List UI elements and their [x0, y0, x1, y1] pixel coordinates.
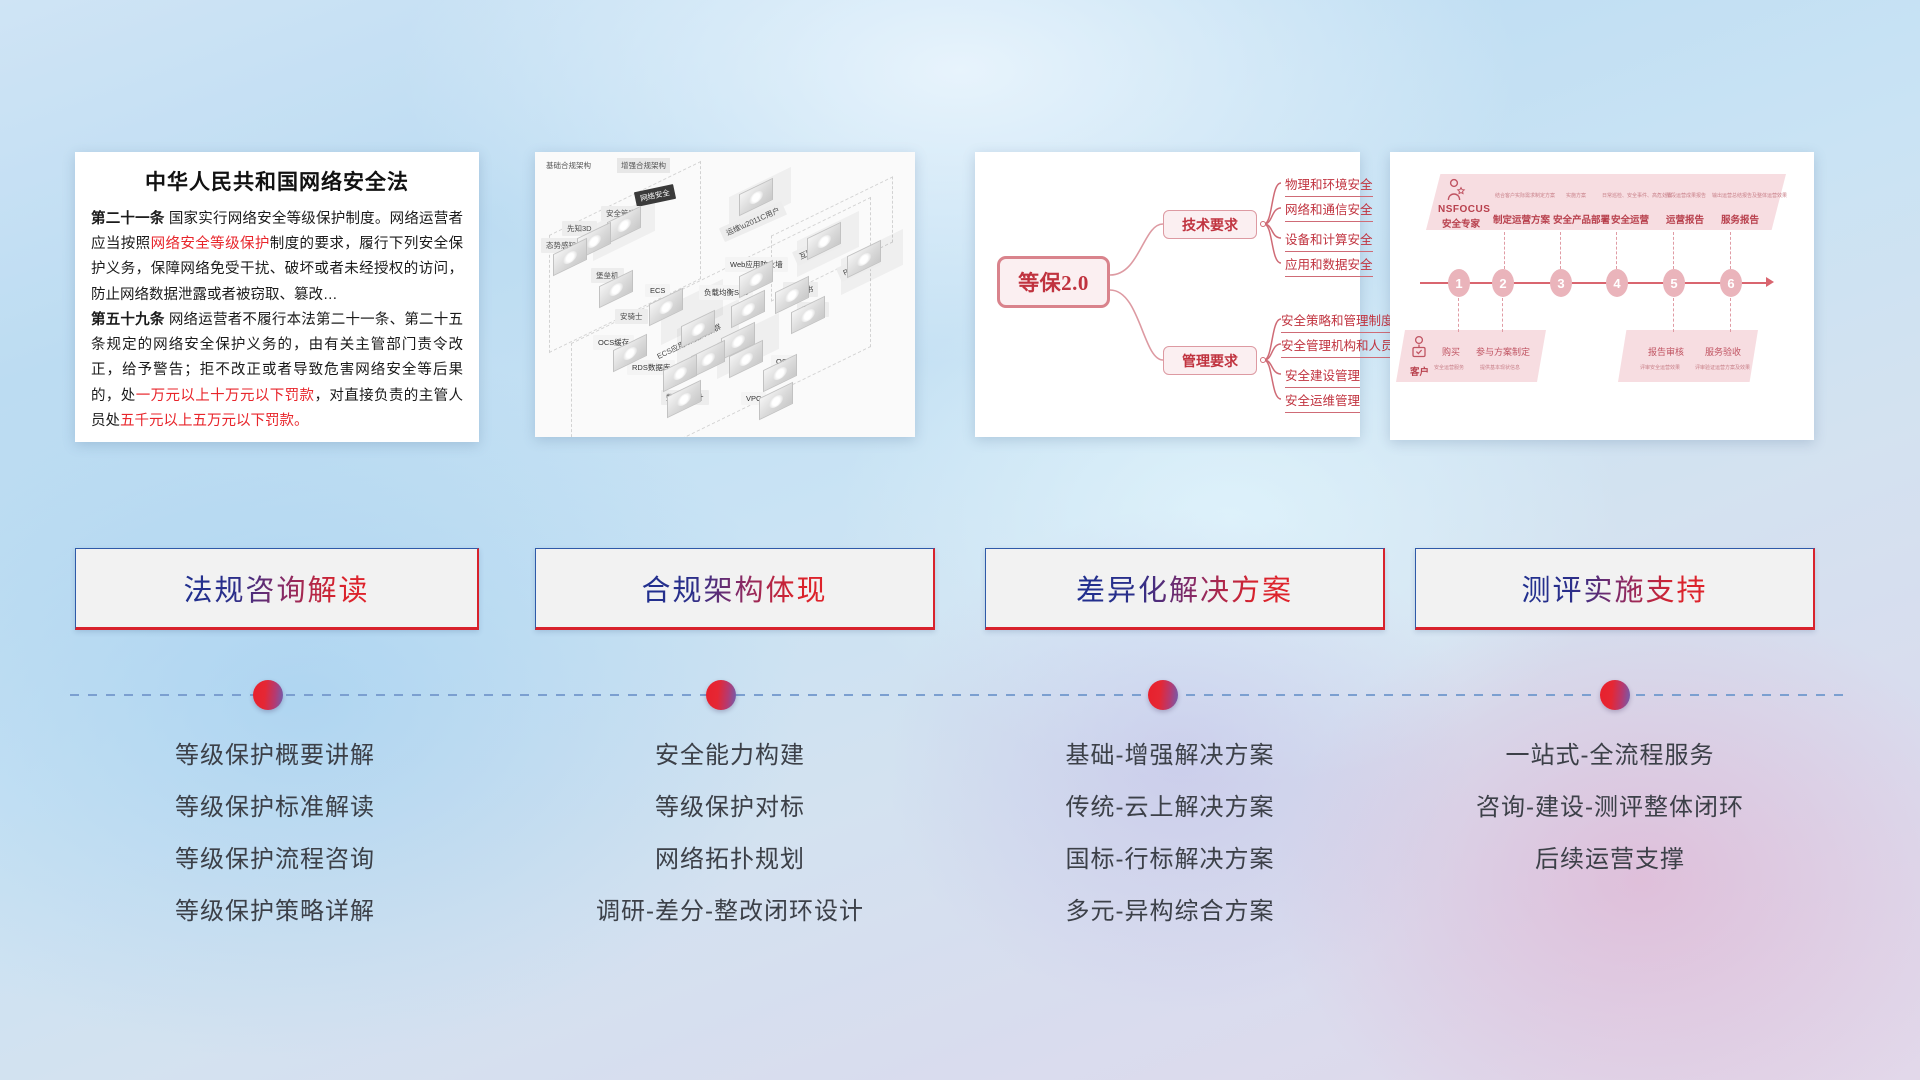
- category-button-regulation-consulting[interactable]: 法规咨询解读: [75, 548, 479, 630]
- law-title: 中华人民共和国网络安全法: [91, 166, 463, 196]
- arch-node-box-5: [739, 186, 773, 208]
- feature-column-solution: 基础-增强解决方案 传统-云上解决方案 国标-行标解决方案 多元-异构综合方案: [960, 744, 1380, 952]
- arch-tab-enhanced[interactable]: 增强合规架构: [617, 158, 670, 173]
- mindmap-leaf-app-data: 应用和数据安全: [1285, 254, 1373, 277]
- customer-role-label: 客户: [1410, 364, 1429, 378]
- mindmap-branch-technical[interactable]: 技术要求: [1163, 210, 1257, 239]
- timeline-bottom-title-1: 购买: [1442, 345, 1460, 358]
- timeline-node-4[interactable]: 4: [1606, 269, 1628, 297]
- timeline-axis: [1420, 282, 1768, 284]
- mindmap-leaf-policy-system: 安全策略和管理制度: [1281, 310, 1394, 333]
- timeline-connector-4-top: [1616, 232, 1617, 269]
- mindmap-leaf-network-comm: 网络和通信安全: [1285, 199, 1373, 222]
- arch-node-box-1: [607, 214, 641, 236]
- arch-node-box-11: [649, 296, 683, 318]
- timeline-connector-2-top: [1504, 232, 1505, 269]
- timeline-bottom-title-4: 服务验收: [1705, 345, 1741, 358]
- category-button-assessment-support[interactable]: 测评实施支持: [1415, 548, 1815, 630]
- feature-item: 多元-异构综合方案: [960, 900, 1380, 924]
- mindmap-diagram: 等保2.0 技术要求 物理和环境安全 网络和通信安全 设备和计算安全 应用和数据…: [975, 152, 1360, 437]
- feature-item: 咨询-建设-测评整体闭环: [1400, 796, 1820, 820]
- category-button-label: 差异化解决方案: [1076, 567, 1293, 609]
- category-button-label: 测评实施支持: [1521, 567, 1707, 609]
- mindmap-leaf-device-compute: 设备和计算安全: [1285, 229, 1373, 252]
- feature-column-architecture: 安全能力构建 等级保护对标 网络拓扑规划 调研-差分-整改闭环设计: [520, 744, 940, 952]
- timeline-node-6[interactable]: 6: [1720, 269, 1742, 297]
- arch-node-box-8: [739, 268, 773, 290]
- mindmap-collapse-dot-management[interactable]: [1260, 357, 1266, 363]
- timeline-top-title-1: 制定运营方案: [1493, 212, 1550, 226]
- timeline-diagram: NSFOCUS 安全专家 结合客户实际需求制定方案 制定运营方案 实施方案 安全…: [1390, 152, 1814, 440]
- arch-node-box-12: [731, 298, 765, 320]
- arch-node-box-6: [807, 230, 841, 252]
- card-compliance-architecture[interactable]: 基础合规架构 增强合规架构 网络安全 安全管家 先知3D 态势感知3D 堡垒机 …: [535, 152, 915, 437]
- arch-node-box-16: [729, 348, 763, 370]
- timeline-marker-3[interactable]: [1148, 680, 1178, 710]
- feature-item: 网络拓扑规划: [520, 848, 940, 872]
- timeline-connector-6-bottom: [1730, 298, 1731, 332]
- timeline-marker-4[interactable]: [1600, 680, 1630, 710]
- mindmap-leaf-org-personnel: 安全管理机构和人员: [1281, 335, 1394, 358]
- timeline-bottom-sub-1: 安全运营服务: [1434, 364, 1464, 371]
- arch-node-box-10: [791, 304, 825, 326]
- category-button-label: 法规咨询解读: [183, 567, 369, 609]
- arch-node-box-4: [599, 278, 633, 300]
- mindmap-leaf-ops-mgmt: 安全运维管理: [1285, 390, 1360, 413]
- timeline-connector-6-top: [1730, 232, 1731, 269]
- feature-item: 传统-云上解决方案: [960, 796, 1380, 820]
- timeline-arrow-icon: [1766, 277, 1774, 287]
- feature-column-regulation: 等级保护概要讲解 等级保护标准解读 等级保护流程咨询 等级保护策略详解: [65, 744, 485, 952]
- feature-item: 等级保护概要讲解: [65, 744, 485, 768]
- timeline-top-sub-2: 实施方案: [1566, 192, 1586, 199]
- timeline-top-sub-1: 结合客户实际需求制定方案: [1495, 192, 1555, 199]
- arch-node-box-17: [613, 342, 647, 364]
- customer-icon: [1410, 335, 1428, 366]
- arch-node-box-19: [667, 388, 701, 410]
- timeline-node-3[interactable]: 3: [1550, 269, 1572, 297]
- timeline-top-title-2: 安全产品部署: [1553, 212, 1610, 226]
- timeline-node-2[interactable]: 2: [1492, 269, 1514, 297]
- article-59-penalty-1: 一万元以上十万元以下罚款: [136, 388, 315, 404]
- law-article-21: 第二十一条 国家实行网络安全等级保护制度。网络运营者应当按照网络安全等级保护制度…: [91, 207, 463, 308]
- timeline-top-sub-3: 日常巡检、安全事件、高危处置: [1602, 192, 1672, 199]
- article-21-label: 第二十一条: [91, 211, 165, 227]
- timeline-connector-1-bottom: [1458, 298, 1459, 332]
- category-button-compliance-architecture[interactable]: 合规架构体现: [535, 548, 935, 630]
- arch-node-box-21: [759, 390, 793, 412]
- vendor-role-label: 安全专家: [1442, 216, 1480, 230]
- architecture-diagram: 基础合规架构 增强合规架构 网络安全 安全管家 先知3D 态势感知3D 堡垒机 …: [535, 152, 915, 437]
- timeline-node-1[interactable]: 1: [1448, 269, 1470, 297]
- timeline-top-sub-4: 阶段运营成果报告: [1666, 192, 1706, 199]
- card-cybersecurity-law[interactable]: 中华人民共和国网络安全法 第二十一条 国家实行网络安全等级保护制度。网络运营者应…: [75, 152, 479, 442]
- arch-node-box-18: [663, 362, 697, 384]
- card-assessment-timeline[interactable]: NSFOCUS 安全专家 结合客户实际需求制定方案 制定运营方案 实施方案 安全…: [1390, 152, 1814, 440]
- arch-node-box-20: [763, 362, 797, 384]
- timeline-bottom-title-2: 参与方案制定: [1476, 345, 1530, 358]
- feature-item: 等级保护标准解读: [65, 796, 485, 820]
- feature-item: 国标-行标解决方案: [960, 848, 1380, 872]
- feature-item: 等级保护对标: [520, 796, 940, 820]
- timeline-marker-2[interactable]: [706, 680, 736, 710]
- timeline-node-5[interactable]: 5: [1663, 269, 1685, 297]
- timeline-marker-1[interactable]: [253, 680, 283, 710]
- arch-label-anqishi: 安骑士: [615, 309, 648, 324]
- article-59-penalty-2: 五千元以上五万元以下罚款。: [120, 413, 309, 429]
- timeline-connector-3-top: [1560, 232, 1561, 269]
- timeline-bottom-sub-4: 评审验证运营方案及效果: [1695, 364, 1750, 371]
- cards-row: 中华人民共和国网络安全法 第二十一条 国家实行网络安全等级保护制度。网络运营者应…: [0, 0, 1920, 440]
- arch-tab-basic[interactable]: 基础合规架构: [542, 158, 595, 173]
- law-text-body: 中华人民共和国网络安全法 第二十一条 国家实行网络安全等级保护制度。网络运营者应…: [75, 152, 479, 434]
- feature-item: 后续运营支撑: [1400, 848, 1820, 872]
- mindmap-collapse-dot-technical[interactable]: [1260, 221, 1266, 227]
- timeline-dashed-line: [70, 694, 1850, 696]
- category-button-differentiated-solution[interactable]: 差异化解决方案: [985, 548, 1385, 630]
- timeline-bottom-title-3: 报告审核: [1648, 345, 1684, 358]
- arch-node-box-3: [553, 246, 587, 268]
- timeline-top-title-4: 运营报告: [1666, 212, 1704, 226]
- timeline-bottom-sub-2: 提供基本现状信息: [1480, 364, 1520, 371]
- article-21-highlight: 网络安全等级保护: [151, 236, 270, 252]
- timeline-bottom-sub-3: 评审安全运营效果: [1640, 364, 1680, 371]
- article-59-label: 第五十九条: [91, 312, 165, 328]
- timeline-top-title-3: 安全运营: [1611, 212, 1649, 226]
- vendor-expert-icon: [1445, 178, 1467, 207]
- mindmap-leaf-physical-env: 物理和环境安全: [1285, 174, 1373, 197]
- feature-column-assessment: 一站式-全流程服务 咨询-建设-测评整体闭环 后续运营支撑: [1400, 744, 1820, 900]
- feature-item: 基础-增强解决方案: [960, 744, 1380, 768]
- arch-node-box-13: [681, 318, 715, 340]
- arch-node-box-7: [847, 248, 881, 270]
- mindmap-root-node[interactable]: 等保2.0: [997, 256, 1110, 308]
- vendor-name-label: NSFOCUS: [1438, 204, 1490, 215]
- arch-node-box-9: [775, 284, 809, 306]
- timeline-top-title-5: 服务报告: [1721, 212, 1759, 226]
- timeline-connector-2-bottom: [1502, 298, 1503, 332]
- card-mindmap-dengbao[interactable]: 等保2.0 技术要求 物理和环境安全 网络和通信安全 设备和计算安全 应用和数据…: [975, 152, 1360, 437]
- feature-item: 调研-差分-整改闭环设计: [520, 900, 940, 924]
- feature-item: 安全能力构建: [520, 744, 940, 768]
- feature-item: 一站式-全流程服务: [1400, 744, 1820, 768]
- mindmap-leaf-construction-mgmt: 安全建设管理: [1285, 365, 1360, 388]
- feature-item: 等级保护流程咨询: [65, 848, 485, 872]
- feature-item: 等级保护策略详解: [65, 900, 485, 924]
- timeline-connector-5-bottom: [1673, 298, 1674, 332]
- law-article-59: 第五十九条 网络运营者不履行本法第二十一条、第二十五条规定的网络安全保护义务的，…: [91, 308, 463, 434]
- mindmap-branch-management[interactable]: 管理要求: [1163, 346, 1257, 375]
- timeline-top-sub-5: 输出运营总结报告及整体运营效果: [1712, 192, 1787, 199]
- category-button-label: 合规架构体现: [641, 567, 827, 609]
- timeline-connector-5-top: [1673, 232, 1674, 269]
